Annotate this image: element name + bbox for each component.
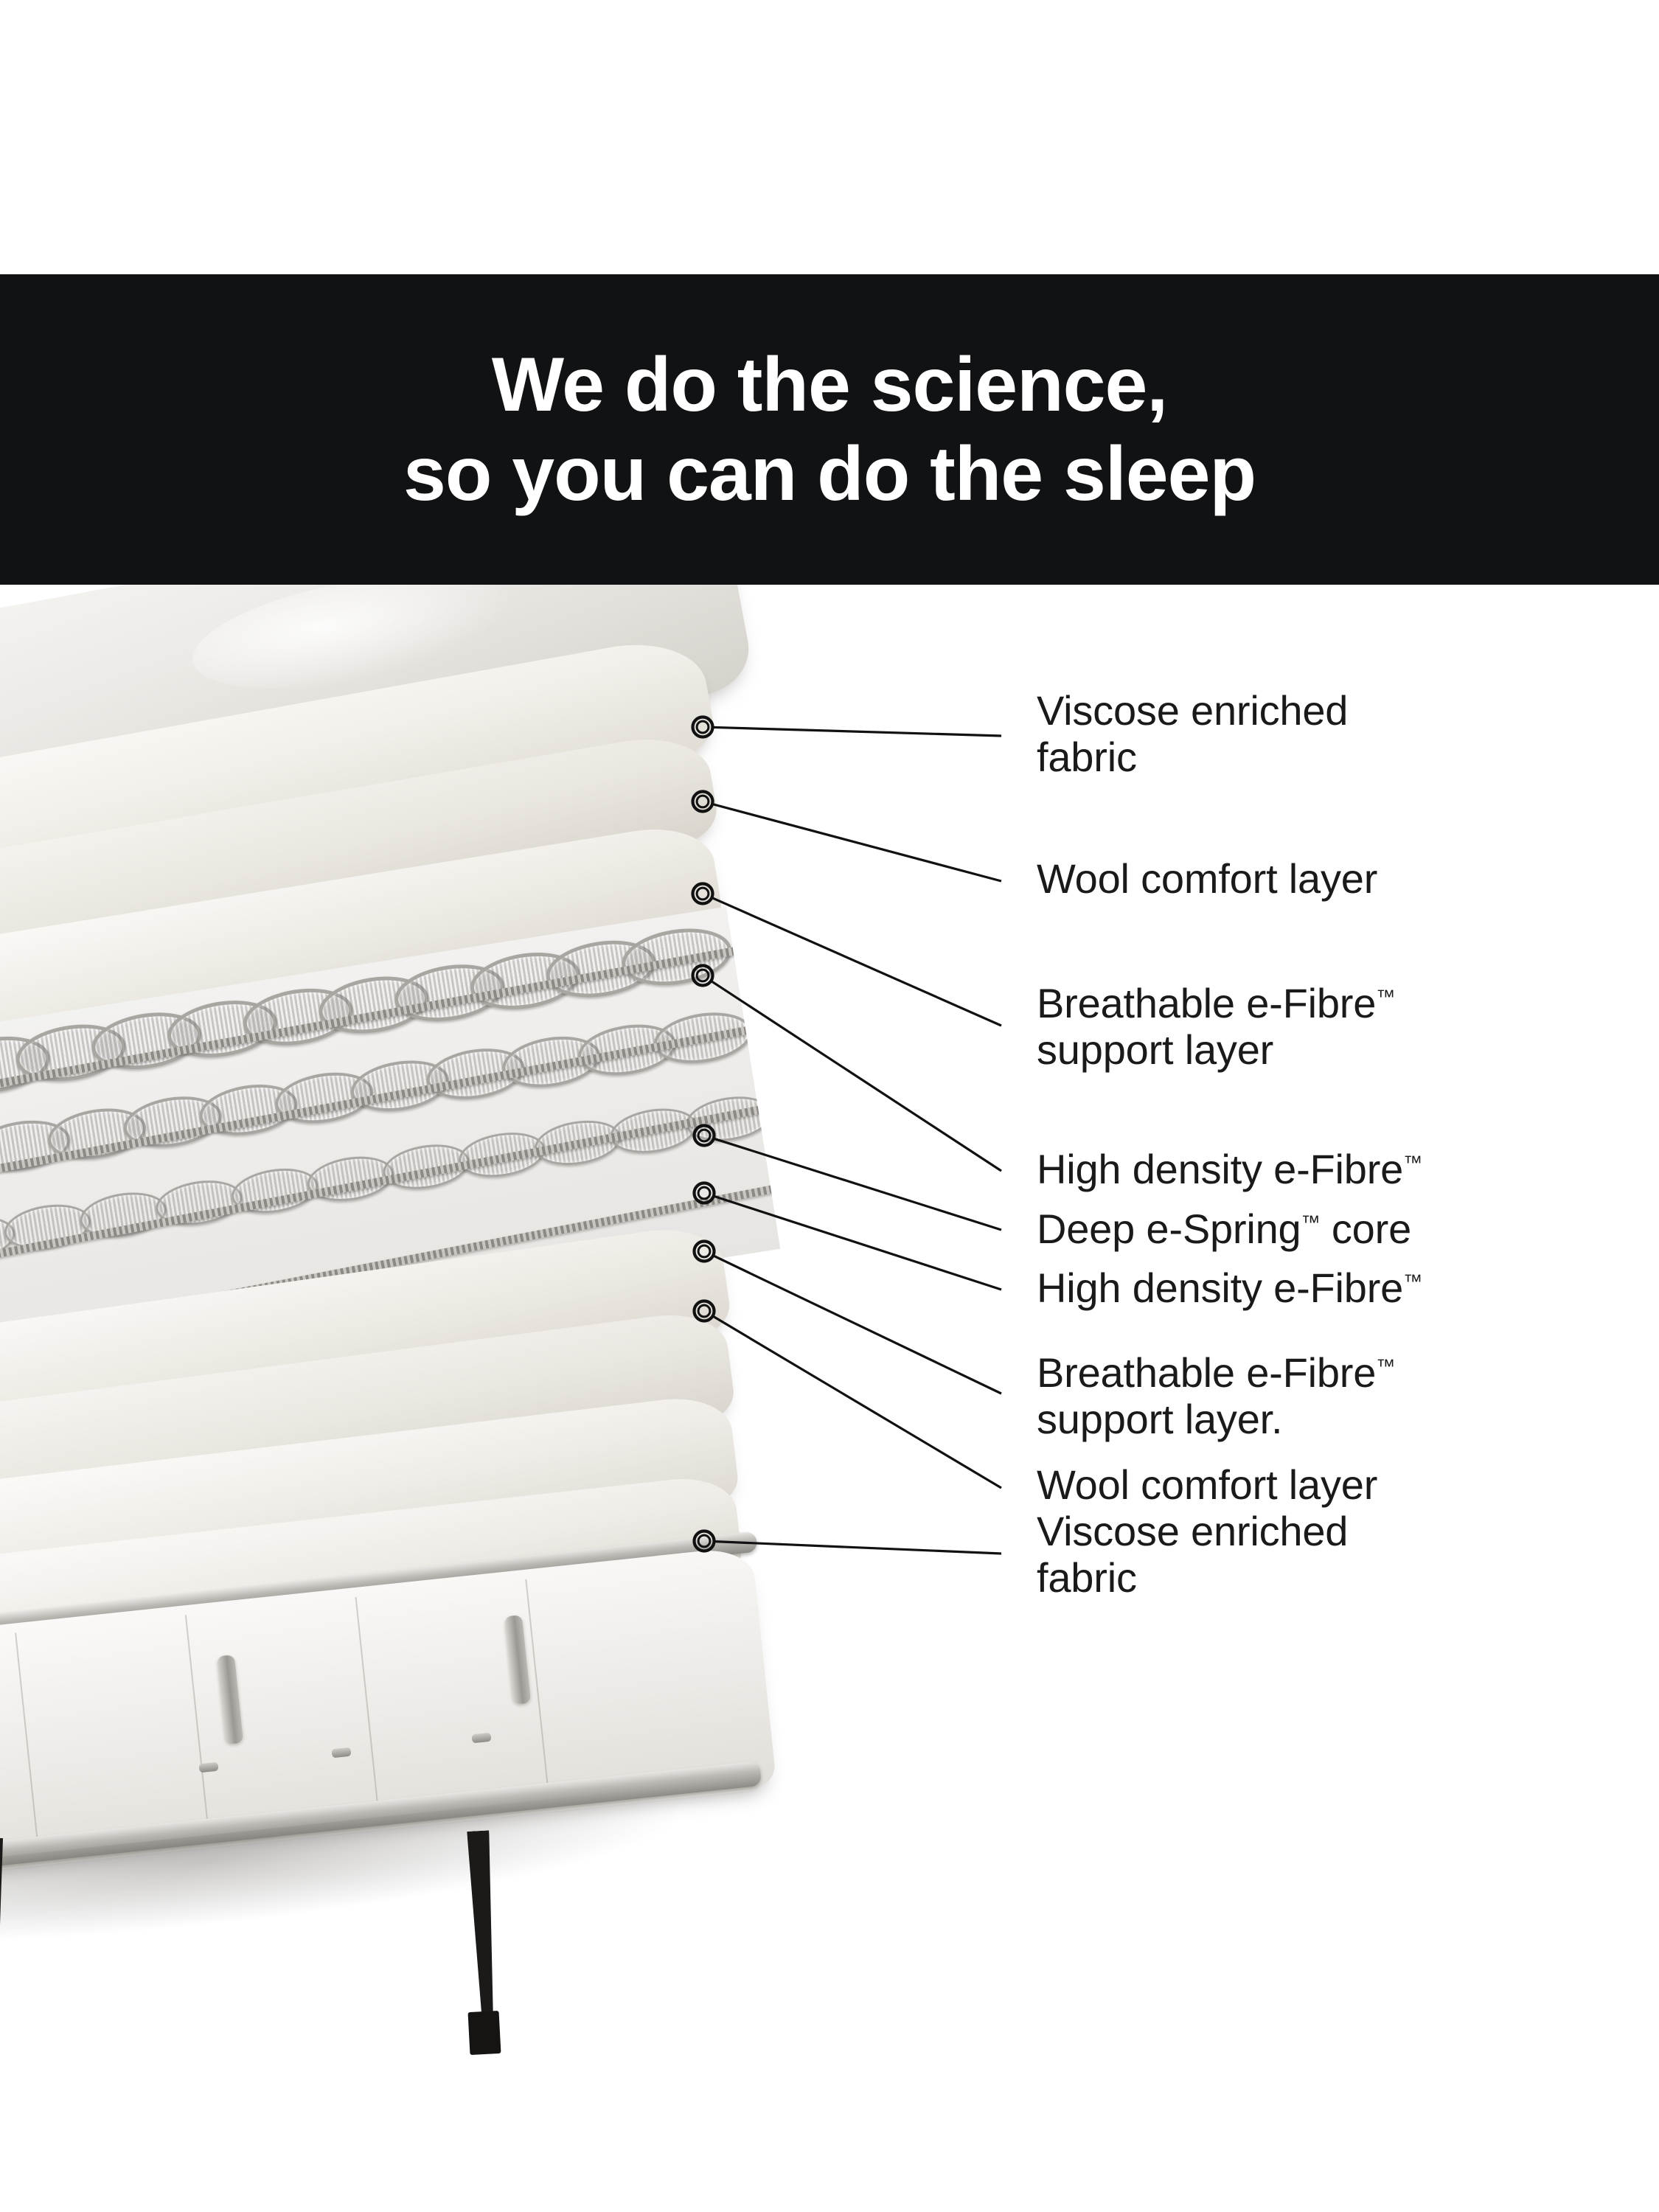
callout-label: Breathable e-Fibre™support layer. [1037,1350,1395,1442]
callout-label-line1: High density e-Fibre [1037,1265,1403,1311]
callout-label-line2: fabric [1037,734,1137,780]
callout-label-line1: Viscose enriched [1037,1508,1348,1554]
callout-dot-icon[interactable] [695,1531,714,1551]
callout-dot-icon[interactable] [695,1242,714,1262]
callout-label-line2: fabric [1037,1554,1137,1601]
callout-label: Wool comfort layer [1037,1462,1377,1509]
trademark-icon: ™ [1403,1270,1422,1292]
callout-dot-icon[interactable] [695,1126,714,1146]
callout-dot-icon[interactable] [695,1183,714,1203]
callout-label-line1: Deep e-Spring [1037,1206,1301,1252]
callout-leader-lines [0,585,1659,2212]
callout-label-line1: Wool comfort layer [1037,855,1377,902]
trademark-icon: ™ [1376,985,1395,1007]
callout-label-line2: support layer [1037,1026,1273,1073]
callout-label-tail: core [1321,1206,1412,1252]
diagram-stage: Viscose enrichedfabricWool comfort layer… [0,585,1659,2212]
callout-label-line1: Breathable e-Fibre [1037,1349,1376,1396]
leader-line [712,981,1001,1171]
page-title: We do the science, so you can do the sle… [403,341,1256,518]
callout-label-line2: support layer. [1037,1396,1282,1442]
trademark-icon: ™ [1403,1151,1422,1173]
callout-dot-icon[interactable] [693,884,713,904]
callout-dot-icon[interactable] [695,1301,714,1321]
callout-label: Deep e-Spring™ core [1037,1206,1411,1253]
callout-label-line1: High density e-Fibre [1037,1146,1403,1192]
trademark-icon: ™ [1301,1211,1321,1233]
leader-line [714,727,1001,736]
callout-label: Viscose enrichedfabric [1037,1509,1348,1601]
callout-label-line1: Viscose enriched [1037,687,1348,734]
callout-label-line1: Breathable e-Fibre [1037,980,1376,1026]
top-white-gap [0,0,1659,274]
leader-line [713,898,1001,1026]
callout-label: High density e-Fibre™ [1037,1147,1422,1193]
callout-dot-icon[interactable] [693,717,713,737]
leader-line [714,1317,1001,1488]
callout-label-line1: Wool comfort layer [1037,1461,1377,1508]
callout-label: High density e-Fibre™ [1037,1265,1422,1312]
leader-line [715,1542,1001,1554]
callout-dot-icon[interactable] [693,792,713,812]
callout-dot-icon[interactable] [693,966,713,986]
trademark-icon: ™ [1376,1354,1395,1377]
callout-label: Wool comfort layer [1037,856,1377,902]
headline-banner: We do the science, so you can do the sle… [0,274,1659,585]
leader-line [714,1139,1001,1230]
leader-line [713,804,1001,881]
callout-label: Viscose enrichedfabric [1037,688,1348,780]
callout-label: Breathable e-Fibre™support layer [1037,981,1395,1073]
